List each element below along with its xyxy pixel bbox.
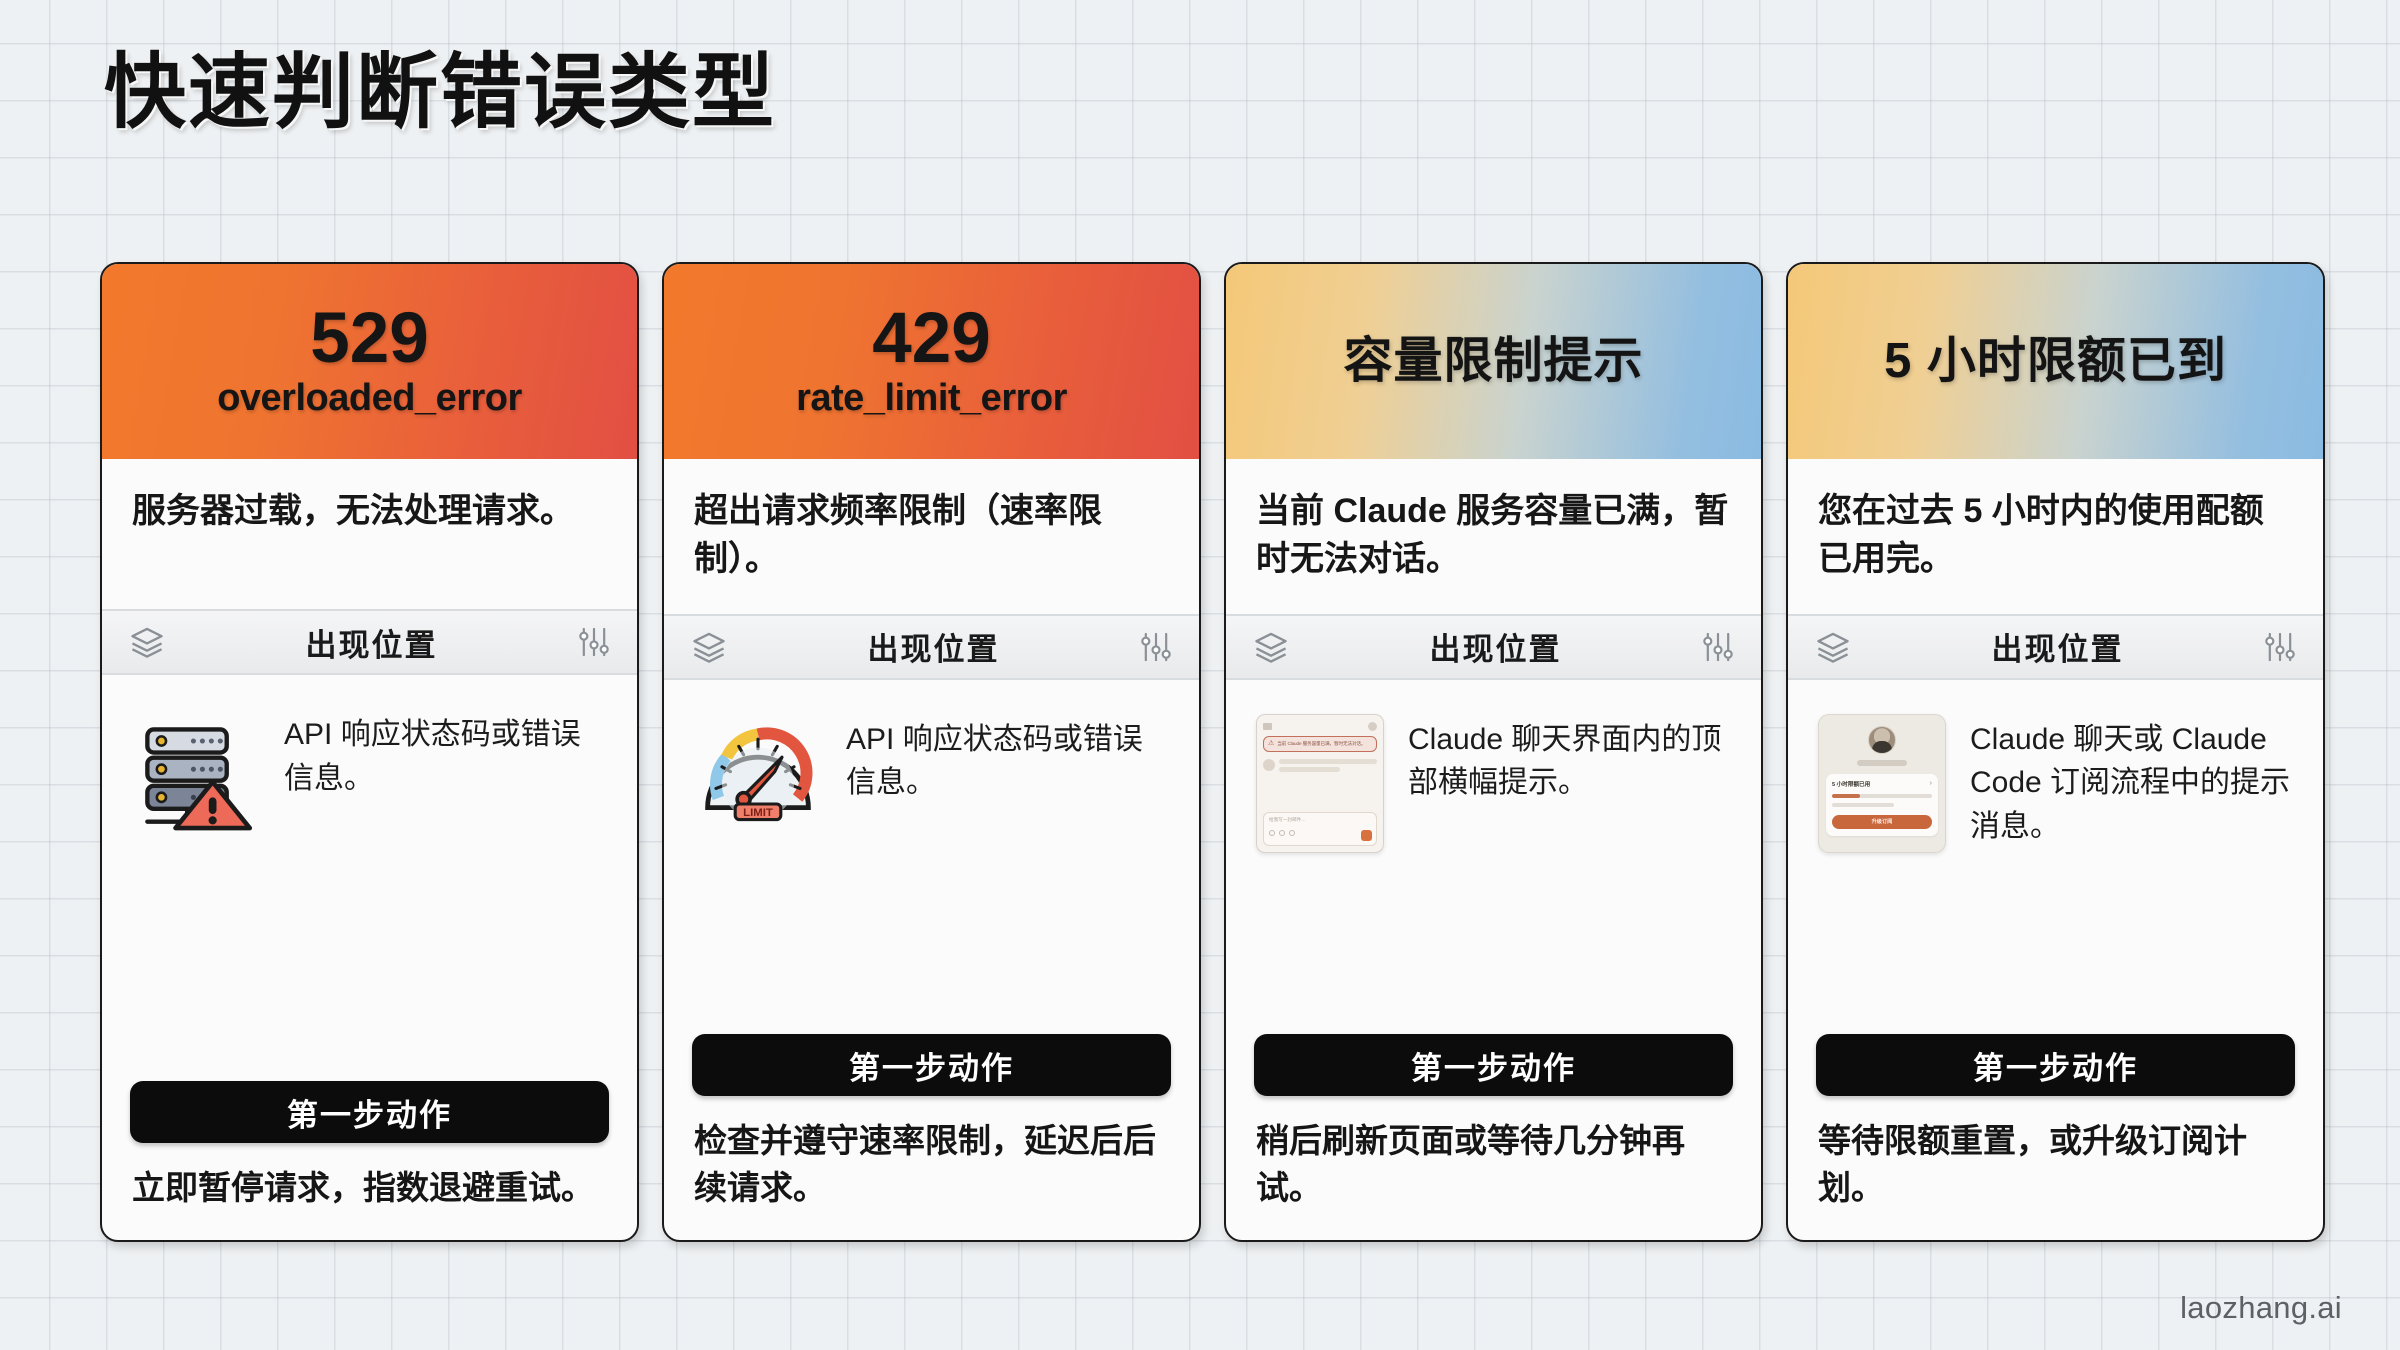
mock-upgrade-label: 升级订阅 [1872, 818, 1893, 825]
error-card-529: 529 overloaded_error 服务器过载，无法处理请求。 出现位置 [100, 262, 639, 1242]
card-footer: 检查并遵守速率限制，延迟后后续请求。 [664, 1096, 1199, 1240]
mock-quota-panel: 5 小时限额已用 › 升级订阅 [1818, 714, 1946, 853]
first-step-action-label: 第一步动作 [849, 1043, 1014, 1088]
occurrence-label: 出现位置 [166, 620, 577, 665]
subscription-quota-screenshot: 5 小时限额已用 › 升级订阅 [1816, 710, 1948, 853]
layers-icon [1814, 631, 1852, 663]
server-rack-warning-icon [130, 705, 262, 837]
mock-message-lines [1279, 759, 1377, 775]
occurrence-label: 出现位置 [728, 624, 1139, 669]
mock-chat-topbar [1263, 722, 1377, 731]
mock-input-tools [1269, 830, 1371, 836]
mock-quota-label: 5 小时限额已用 [1832, 780, 1870, 788]
chevron-right-icon: › [1930, 780, 1932, 787]
warning-icon: ⚠ [1268, 740, 1274, 747]
mock-subtext-placeholder [1832, 803, 1894, 807]
sliders-icon [1139, 631, 1173, 663]
card-footer: 稍后刷新页面或等待几分钟再试。 [1226, 1096, 1761, 1240]
mock-progress-fill [1832, 794, 1860, 798]
error-slug: rate_limit_error [796, 377, 1067, 420]
mock-chat-window: ⚠ 当前 Claude 服务容量已满，暂时无法对话。 给我写一封邮件… [1256, 714, 1384, 853]
speedometer-limit-icon: LIMIT [692, 710, 824, 834]
layers-icon [690, 631, 728, 663]
mock-input-placeholder: 给我写一封邮件… [1269, 817, 1371, 823]
avatar [1368, 722, 1377, 731]
occurrence-divider: 出现位置 [1226, 614, 1761, 680]
mock-quota-card: 5 小时限额已用 › 升级订阅 [1826, 774, 1938, 836]
occurrence-section: ⚠ 当前 Claude 服务容量已满，暂时无法对话。 给我写一封邮件… [1226, 680, 1761, 1035]
mock-text-line [1279, 759, 1377, 764]
first-step-action-button[interactable]: 第一步动作 [1254, 1034, 1733, 1096]
sliders-icon [577, 626, 611, 658]
card-header: 429 rate_limit_error [664, 264, 1199, 459]
mock-capacity-banner: ⚠ 当前 Claude 服务容量已满，暂时无法对话。 [1263, 736, 1377, 752]
card-description: 您在过去 5 小时内的使用配额已用完。 [1788, 459, 2323, 614]
first-step-action-label: 第一步动作 [1411, 1043, 1576, 1088]
mock-username-placeholder [1857, 760, 1907, 766]
card-description: 当前 Claude 服务容量已满，暂时无法对话。 [1226, 459, 1761, 614]
mock-banner-text: 当前 Claude 服务容量已满，暂时无法对话。 [1277, 741, 1365, 747]
svg-text:LIMIT: LIMIT [743, 807, 773, 819]
error-code: 429 [872, 303, 990, 375]
first-step-action-button[interactable]: 第一步动作 [692, 1034, 1171, 1096]
occurrence-divider: 出现位置 [1788, 614, 2323, 680]
menu-icon [1263, 723, 1272, 730]
mock-text-line [1279, 767, 1340, 772]
first-step-action-button[interactable]: 第一步动作 [130, 1081, 609, 1143]
first-step-action-button[interactable]: 第一步动作 [1816, 1034, 2295, 1096]
card-header: 529 overloaded_error [102, 264, 637, 459]
occurrence-text: Claude 聊天界面内的顶部横幅提示。 [1408, 710, 1733, 806]
occurrence-divider: 出现位置 [664, 614, 1199, 680]
error-card-capacity: 容量限制提示 当前 Claude 服务容量已满，暂时无法对话。 出现位置 [1224, 262, 1763, 1242]
error-slug: overloaded_error [217, 377, 522, 420]
mock-progress-bar [1832, 794, 1932, 798]
error-card-quota: 5 小时限额已到 您在过去 5 小时内的使用配额已用完。 出现位置 [1786, 262, 2325, 1242]
first-step-action-label: 第一步动作 [1973, 1043, 2138, 1088]
card-title: 5 小时限额已到 [1884, 333, 2227, 389]
card-title: 容量限制提示 [1343, 333, 1643, 389]
card-description: 服务器过载，无法处理请求。 [102, 459, 637, 609]
error-code: 529 [310, 303, 428, 375]
avatar [1263, 759, 1275, 771]
attach-icon [1269, 830, 1275, 836]
first-step-action-label: 第一步动作 [287, 1090, 452, 1135]
occurrence-text: API 响应状态码或错误信息。 [284, 705, 609, 801]
watermark: laozhang.ai [2180, 1290, 2342, 1326]
mock-message-row [1263, 759, 1377, 775]
mock-upgrade-button: 升级订阅 [1832, 815, 1932, 829]
error-card-row: 529 overloaded_error 服务器过载，无法处理请求。 出现位置 [100, 262, 2325, 1242]
occurrence-section: API 响应状态码或错误信息。 [102, 675, 637, 1081]
occurrence-divider: 出现位置 [102, 609, 637, 675]
page-title: 快速判断错误类型 [104, 52, 776, 134]
send-icon [1361, 830, 1372, 841]
occurrence-text: API 响应状态码或错误信息。 [846, 710, 1171, 806]
mock-chat-input: 给我写一封邮件… [1263, 812, 1377, 846]
more-icon [1289, 830, 1295, 836]
sliders-icon [2263, 631, 2297, 663]
layers-icon [128, 626, 166, 658]
card-header: 容量限制提示 [1226, 264, 1761, 459]
image-icon [1279, 830, 1285, 836]
occurrence-label: 出现位置 [1290, 624, 1701, 669]
occurrence-section: 5 小时限额已用 › 升级订阅 Claude 聊天或 Claude Code 订… [1788, 680, 2323, 1035]
chat-banner-screenshot: ⚠ 当前 Claude 服务容量已满，暂时无法对话。 给我写一封邮件… [1254, 710, 1386, 853]
mock-quota-row: 5 小时限额已用 › [1832, 780, 1932, 788]
sliders-icon [1701, 631, 1735, 663]
layers-icon [1252, 631, 1290, 663]
error-card-429: 429 rate_limit_error 超出请求频率限制（速率限制）。 出现位… [662, 262, 1201, 1242]
occurrence-text: Claude 聊天或 Claude Code 订阅流程中的提示消息。 [1970, 710, 2295, 849]
card-footer: 等待限额重置，或升级订阅计划。 [1788, 1096, 2323, 1240]
occurrence-section: LIMIT API 响应状态码或错误信息。 [664, 680, 1199, 1035]
card-header: 5 小时限额已到 [1788, 264, 2323, 459]
avatar [1868, 726, 1896, 754]
card-footer: 立即暂停请求，指数退避重试。 [102, 1143, 637, 1240]
card-description: 超出请求频率限制（速率限制）。 [664, 459, 1199, 614]
occurrence-label: 出现位置 [1852, 624, 2263, 669]
